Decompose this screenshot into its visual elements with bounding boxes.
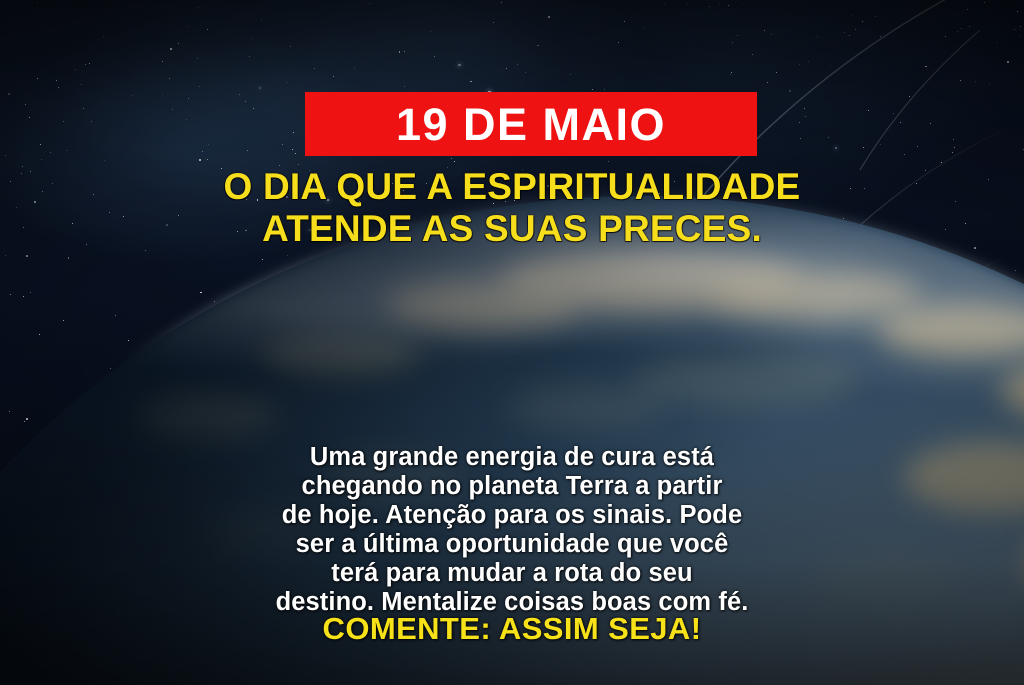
call-to-action: COMENTE: ASSIM SEJA! — [0, 613, 1024, 644]
cta-label: COMENTE: ASSIM SEJA! — [323, 611, 702, 646]
headline-line-2: ATENDE AS SUAS PRECES. — [0, 208, 1024, 250]
body-paragraph: Uma grande energia de cura está chegando… — [62, 443, 962, 617]
poster-content: 19 DE MAIO O DIA QUE A ESPIRITUALIDADE A… — [0, 0, 1024, 685]
body-line-3: de hoje. Atenção para os sinais. Pode — [62, 501, 962, 530]
headline-line-1: O DIA QUE A ESPIRITUALIDADE — [0, 166, 1024, 208]
body-line-4: ser a última oportunidade que você — [62, 530, 962, 559]
body-line-1: Uma grande energia de cura está — [62, 443, 962, 472]
body-line-5: terá para mudar a rota do seu — [62, 559, 962, 588]
date-banner-label: 19 DE MAIO — [396, 102, 666, 147]
body-line-2: chegando no planeta Terra a partir — [62, 472, 962, 501]
date-banner: 19 DE MAIO — [305, 92, 757, 156]
headline: O DIA QUE A ESPIRITUALIDADE ATENDE AS SU… — [0, 166, 1024, 250]
poster-canvas: 19 DE MAIO O DIA QUE A ESPIRITUALIDADE A… — [0, 0, 1024, 685]
